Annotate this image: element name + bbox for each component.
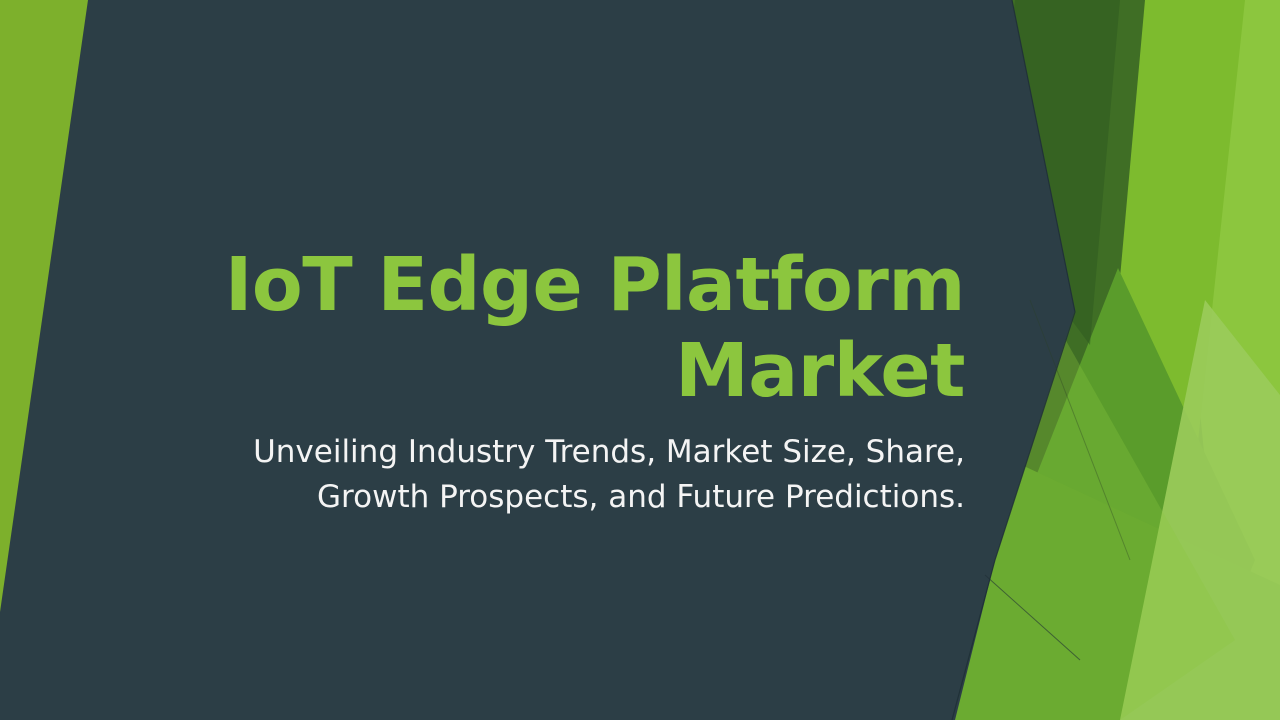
subtitle-line-1: Unveiling Industry Trends, Market Size, … <box>150 430 965 475</box>
title-line-1: IoT Edge Platform <box>150 242 965 328</box>
slide-text-layer: IoT Edge Platform Market Unveiling Indus… <box>0 0 1280 720</box>
page-title: IoT Edge Platform Market <box>150 242 965 414</box>
page-subtitle: Unveiling Industry Trends, Market Size, … <box>150 430 965 520</box>
title-line-2: Market <box>150 328 965 414</box>
subtitle-line-2: Growth Prospects, and Future Predictions… <box>150 475 965 520</box>
title-slide: IoT Edge Platform Market Unveiling Indus… <box>0 0 1280 720</box>
